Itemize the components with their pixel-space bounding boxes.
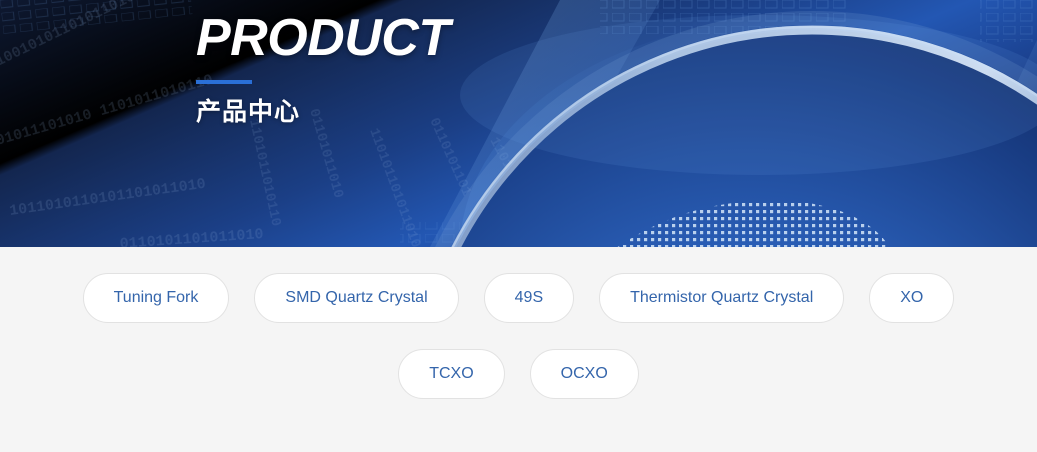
category-pill-smd-quartz-crystal[interactable]: SMD Quartz Crystal bbox=[254, 273, 458, 323]
category-pill-thermistor-quartz-crystal[interactable]: Thermistor Quartz Crystal bbox=[599, 273, 844, 323]
category-pill-label: XO bbox=[900, 289, 923, 307]
category-pill-label: SMD Quartz Crystal bbox=[285, 289, 427, 307]
category-row-1: Tuning Fork SMD Quartz Crystal 49S Therm… bbox=[0, 247, 1037, 323]
category-pill-ocxo[interactable]: OCXO bbox=[530, 349, 639, 399]
page-subtitle: 产品中心 bbox=[196, 98, 450, 126]
banner-text-block: PRODUCT 产品中心 bbox=[196, 10, 450, 126]
category-pill-label: Thermistor Quartz Crystal bbox=[630, 289, 813, 307]
title-accent-bar bbox=[196, 80, 252, 84]
page-banner: 110010101101011010 1101010111 0101011101… bbox=[0, 0, 1037, 247]
category-row-2: TCXO OCXO bbox=[0, 323, 1037, 399]
category-pill-tcxo[interactable]: TCXO bbox=[398, 349, 504, 399]
product-category-nav: Tuning Fork SMD Quartz Crystal 49S Therm… bbox=[0, 247, 1037, 452]
category-pill-label: 49S bbox=[515, 289, 543, 307]
category-pill-label: Tuning Fork bbox=[114, 289, 199, 307]
category-pill-label: TCXO bbox=[429, 365, 473, 383]
category-pill-tuning-fork[interactable]: Tuning Fork bbox=[83, 273, 230, 323]
page-title: PRODUCT bbox=[196, 10, 450, 66]
category-pill-xo[interactable]: XO bbox=[869, 273, 954, 323]
category-pill-49s[interactable]: 49S bbox=[484, 273, 574, 323]
banner-background-graphic: 110010101101011010 1101010111 0101011101… bbox=[0, 0, 1037, 247]
category-pill-label: OCXO bbox=[561, 365, 608, 383]
